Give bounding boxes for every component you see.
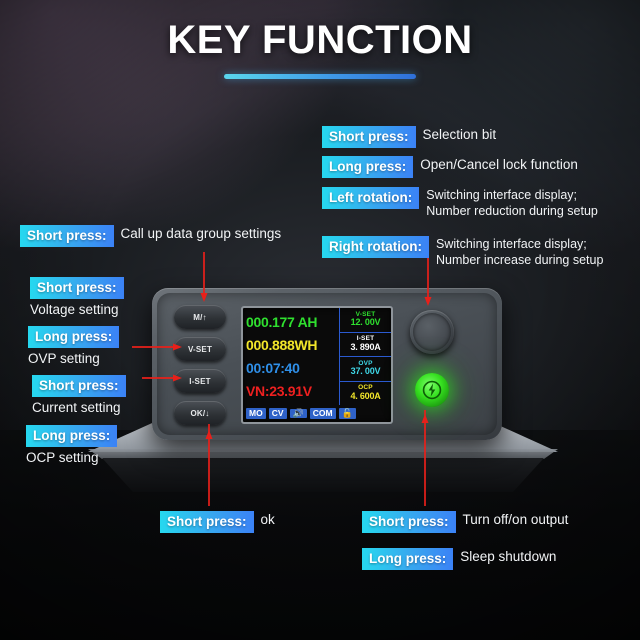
lcd-settings-panel: V-SET 12. 00V I-SET 3. 890A OVP 37. 00V <box>339 308 391 405</box>
lcd-readings: 000.177 AH 000.888WH 00:07:40 VN:23.91V <box>243 308 339 405</box>
lcd-status-com: COM <box>310 408 336 419</box>
platform-edge <box>88 449 558 459</box>
power-button[interactable] <box>415 373 449 407</box>
lcd-setting-vset: V-SET 12. 00V <box>340 308 391 333</box>
callout-text: Sleep shutdown <box>460 548 556 565</box>
lcd-reading-watt-hours: 000.888WH <box>246 338 339 352</box>
callout-chip: Left rotation: <box>322 187 419 209</box>
callout-text: Open/Cancel lock function <box>420 156 578 173</box>
callout-text: OCP setting <box>26 449 117 466</box>
callout-text-line1: Switching interface display; <box>426 187 598 203</box>
device-button-column: M/↑ V-SET I-SET OK/↓ <box>174 305 226 433</box>
callout-voltage-setting: Short press: Voltage setting <box>30 277 124 318</box>
callout-chip: Short press: <box>20 225 114 247</box>
page-header: KEY FUNCTION <box>0 18 640 79</box>
lcd-status-cv: CV <box>269 408 287 419</box>
callout-power-long-press: Long press: Sleep shutdown <box>362 548 556 570</box>
device-button-memory[interactable]: M/↑ <box>174 305 226 329</box>
lcd-setting-vset-value: 12. 00V <box>351 318 381 327</box>
lcd-setting-ovp-value: 37. 00V <box>351 367 381 376</box>
callout-chip: Long press: <box>322 156 413 178</box>
unlock-icon: 🔓 <box>339 408 356 420</box>
device-faceplate: M/↑ V-SET I-SET OK/↓ 000.177 AH 000.888W… <box>157 293 497 435</box>
lcd-status-bar: MO CV 🔊 COM 🔓 <box>243 405 391 422</box>
callout-power-short-press: Short press: Turn off/on output <box>362 511 568 533</box>
lcd-screen: 000.177 AH 000.888WH 00:07:40 VN:23.91V … <box>241 306 393 424</box>
callout-chip: Long press: <box>28 326 119 348</box>
rotary-encoder-knob[interactable] <box>410 310 454 354</box>
callout-text: Selection bit <box>423 126 497 143</box>
callout-ocp-setting: Long press: OCP setting <box>26 425 117 466</box>
lcd-setting-iset-value: 3. 890A <box>350 343 380 352</box>
callout-text-line2: Number reduction during setup <box>426 203 598 219</box>
power-icon <box>421 379 443 401</box>
lcd-main-area: 000.177 AH 000.888WH 00:07:40 VN:23.91V … <box>243 308 391 405</box>
callout-chip: Long press: <box>26 425 117 447</box>
callout-text: Current setting <box>32 399 126 416</box>
callout-encoder-short-press: Short press: Selection bit <box>322 126 496 148</box>
platform-body <box>102 458 544 492</box>
lcd-setting-ovp: OVP 37. 00V <box>340 357 391 382</box>
lcd-setting-iset: I-SET 3. 890A <box>340 333 391 358</box>
callout-ok-button: Short press: ok <box>160 511 275 533</box>
lcd-setting-ocp: OCP 4. 600A <box>340 382 391 406</box>
power-supply-device: M/↑ V-SET I-SET OK/↓ 000.177 AH 000.888W… <box>152 288 502 440</box>
lcd-setting-ocp-value: 4. 600A <box>350 392 380 401</box>
lcd-reading-amp-hours: 000.177 AH <box>246 315 339 329</box>
callout-text-block: Switching interface display; Number incr… <box>436 236 603 268</box>
device-shell: M/↑ V-SET I-SET OK/↓ 000.177 AH 000.888W… <box>152 288 502 440</box>
callout-chip: Short press: <box>30 277 124 299</box>
title-underline <box>224 74 416 79</box>
callout-text-block: Switching interface display; Number redu… <box>426 187 598 219</box>
lcd-reading-voltage: VN:23.91V <box>246 384 339 398</box>
callout-text: OVP setting <box>28 350 119 367</box>
device-button-ok[interactable]: OK/↓ <box>174 401 226 425</box>
callout-ovp-setting: Long press: OVP setting <box>28 326 119 367</box>
callout-chip: Short press: <box>322 126 416 148</box>
speaker-icon: 🔊 <box>290 409 307 419</box>
lcd-reading-timer: 00:07:40 <box>246 361 339 375</box>
callout-text: Turn off/on output <box>463 511 569 528</box>
callout-encoder-right-rotation: Right rotation: Switching interface disp… <box>322 236 603 268</box>
callout-encoder-left-rotation: Left rotation: Switching interface displ… <box>322 187 598 219</box>
callout-chip: Short press: <box>160 511 254 533</box>
device-button-iset[interactable]: I-SET <box>174 369 226 393</box>
callout-text: Voltage setting <box>30 301 124 318</box>
lcd-status-mode: MO <box>246 408 266 419</box>
callout-encoder-long-press: Long press: Open/Cancel lock function <box>322 156 578 178</box>
callout-data-group: Short press: Call up data group settings <box>20 225 281 247</box>
callout-chip: Short press: <box>362 511 456 533</box>
callout-chip: Short press: <box>32 375 126 397</box>
page-title: KEY FUNCTION <box>0 18 640 63</box>
device-button-vset[interactable]: V-SET <box>174 337 226 361</box>
callout-chip: Long press: <box>362 548 453 570</box>
callout-text-line1: Switching interface display; <box>436 236 603 252</box>
callout-text: ok <box>261 511 275 528</box>
callout-text-line2: Number increase during setup <box>436 252 603 268</box>
callout-current-setting: Short press: Current setting <box>32 375 126 416</box>
callout-chip: Right rotation: <box>322 236 429 258</box>
callout-text: Call up data group settings <box>121 225 282 242</box>
